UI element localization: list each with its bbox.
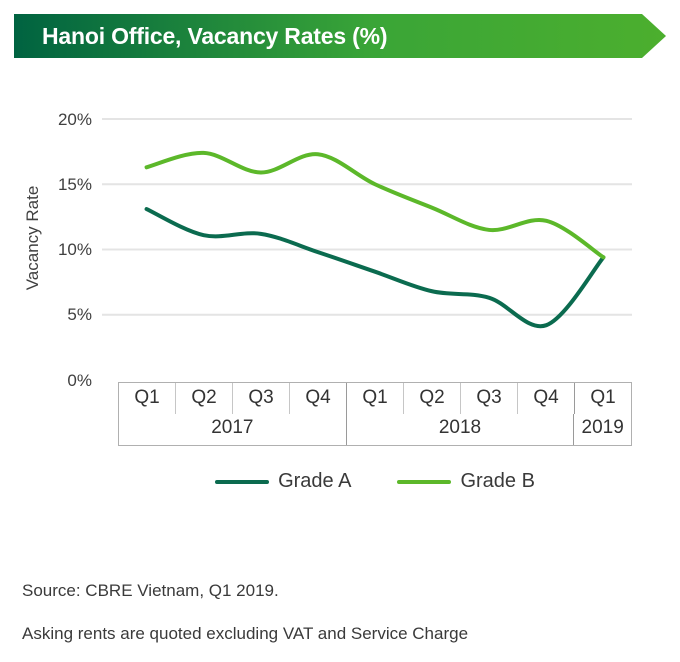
x-tick-q1-2019: Q1 — [574, 383, 631, 414]
x-tick-q4-2017: Q4 — [289, 383, 346, 414]
legend-line-icon-grade-a — [215, 480, 269, 484]
x-tick-q1-2017: Q1 — [119, 383, 175, 414]
plot-canvas — [0, 76, 680, 406]
chart-area: Vacancy Rate 20% 15% 10% 5% 0% — [0, 76, 680, 406]
series-line-grade-b — [147, 153, 604, 257]
x-tick-q4-2018: Q4 — [517, 383, 574, 414]
series-line-grade-a — [147, 209, 604, 326]
x-group-label-2018: 2018 — [346, 414, 574, 445]
legend-item-grade-b: Grade B — [397, 470, 534, 493]
legend-item-grade-a: Grade A — [215, 470, 351, 493]
series-lines — [147, 153, 604, 326]
x-tick-q3-2018: Q3 — [460, 383, 517, 414]
quarter-row: Q1 Q2 Q3 Q4 Q1 Q2 Q3 Q4 Q1 — [119, 383, 631, 414]
x-tick-q3-2017: Q3 — [232, 383, 289, 414]
year-row: 2017 2018 2019 — [119, 414, 631, 445]
x-group-label-2019: 2019 — [573, 414, 631, 445]
x-tick-q2-2017: Q2 — [175, 383, 232, 414]
x-tick-q1-2018: Q1 — [346, 383, 403, 414]
x-group-label-2017: 2017 — [119, 414, 346, 445]
chart-legend: Grade A Grade B — [118, 470, 632, 493]
header-banner: Hanoi Office, Vacancy Rates (%) — [14, 14, 666, 58]
legend-label-grade-b: Grade B — [460, 470, 534, 493]
legend-line-icon-grade-b — [397, 480, 451, 484]
disclaimer-note: Asking rents are quoted excluding VAT an… — [22, 624, 468, 644]
source-note: Source: CBRE Vietnam, Q1 2019. — [22, 581, 279, 601]
x-tick-q2-2018: Q2 — [403, 383, 460, 414]
legend-label-grade-a: Grade A — [278, 470, 351, 493]
page-title: Hanoi Office, Vacancy Rates (%) — [42, 14, 387, 58]
x-axis-table: Q1 Q2 Q3 Q4 Q1 Q2 Q3 Q4 Q1 2017 2018 201… — [118, 382, 632, 446]
